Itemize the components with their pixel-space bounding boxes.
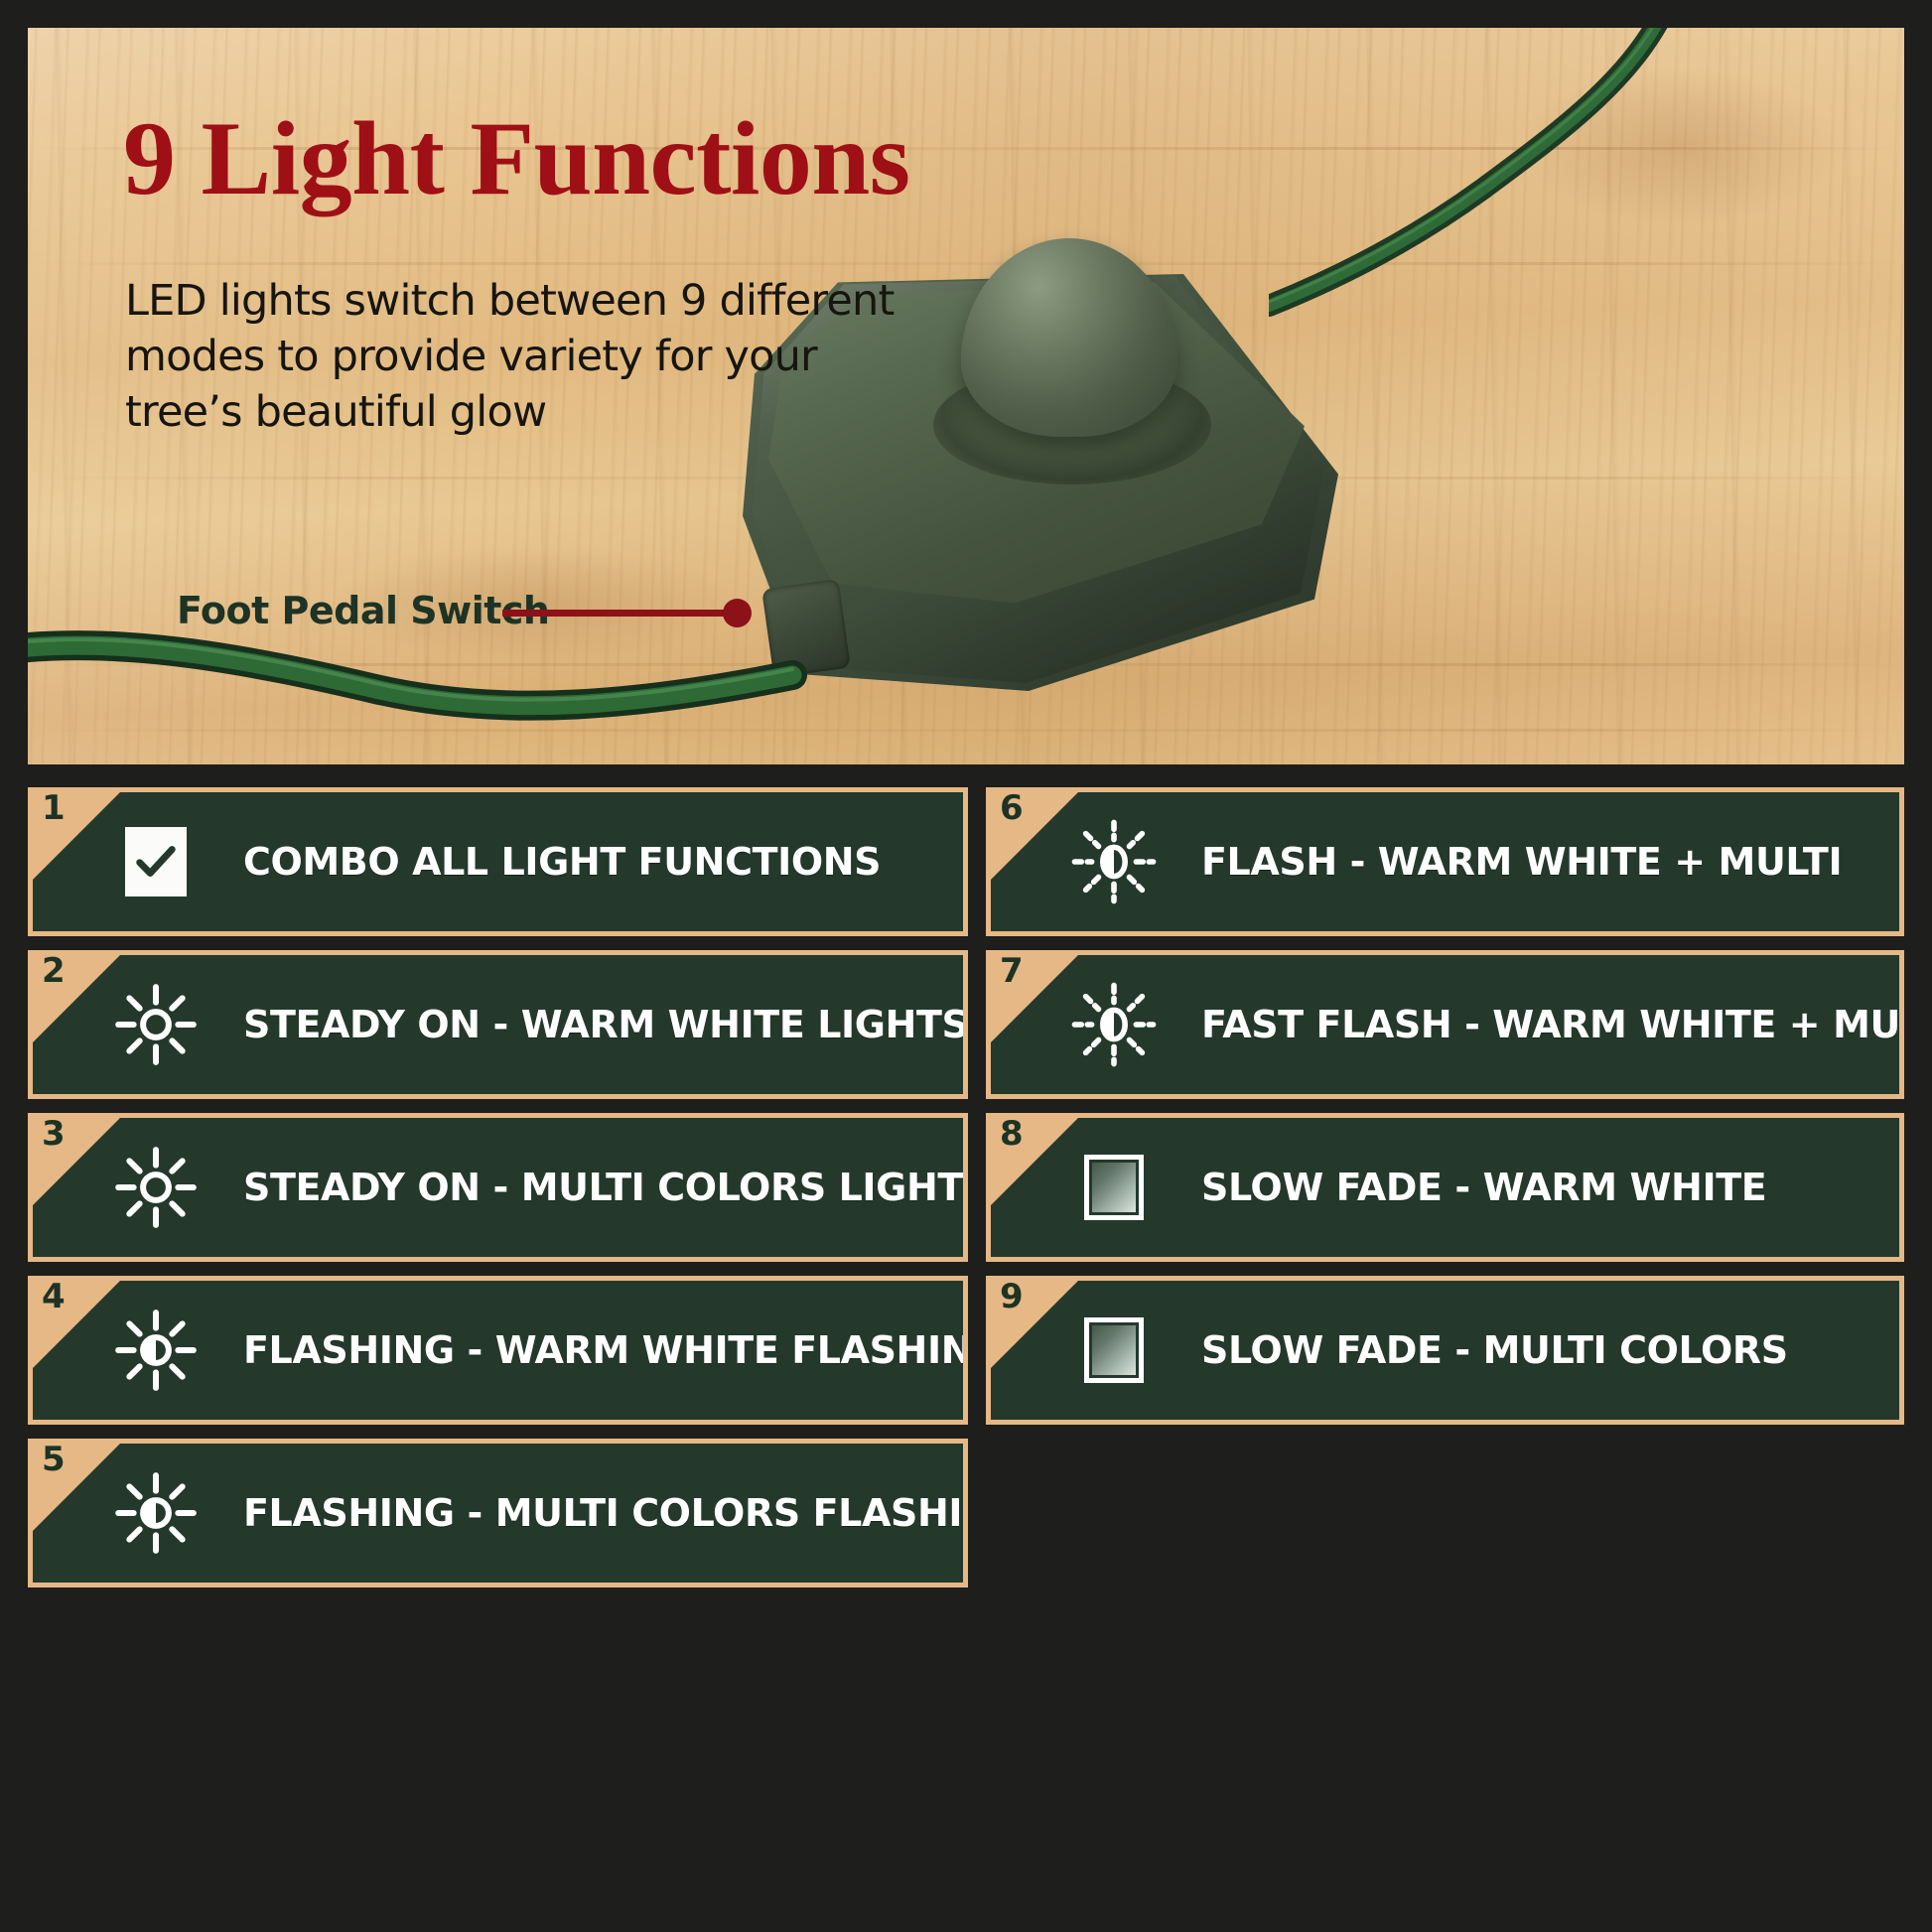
function-row-7[interactable]: 7 (986, 950, 1904, 1099)
function-card: FLASH - WARM WHITE + MULTI (991, 792, 1899, 931)
function-row-2[interactable]: 2 (28, 950, 968, 1099)
infographic-root: 9 Light Functions LED lights switch betw… (0, 0, 1932, 1932)
function-card: SLOW FADE - MULTI COLORS (991, 1281, 1899, 1420)
function-row-9[interactable]: 9 SLOW FADE - MULTI COLORS (986, 1276, 1904, 1425)
function-label: STEADY ON - MULTI COLORS LIGHTS (243, 1166, 990, 1209)
power-cord-right (1269, 28, 1686, 345)
function-card: FAST FLASH - WARM WHITE + MULTI (991, 955, 1899, 1094)
sun-flashing-icon (110, 1305, 202, 1396)
function-label: FLASHING - MULTI COLORS FLASHING (243, 1491, 1024, 1535)
functions-column-right: 6 (986, 787, 1904, 1904)
function-number: 6 (1000, 791, 1024, 825)
function-row-8[interactable]: 8 SLOW FADE - WARM WHITE (986, 1113, 1904, 1262)
function-label: FLASHING - WARM WHITE FLASHING (243, 1328, 1003, 1372)
function-row-4[interactable]: 4 (28, 1276, 968, 1425)
function-number: 9 (1000, 1280, 1024, 1313)
function-row-6[interactable]: 6 (986, 787, 1904, 936)
function-label: FAST FLASH - WARM WHITE + MULTI (1201, 1003, 1932, 1046)
function-label: SLOW FADE - MULTI COLORS (1201, 1328, 1788, 1372)
light-functions-grid: 1 COMBO ALL LIGHT FUNCTIONS 2 (28, 787, 1904, 1904)
sun-flash-dashed-icon (1068, 816, 1160, 907)
function-label: COMBO ALL LIGHT FUNCTIONS (243, 840, 881, 884)
pedal-push-button (961, 238, 1177, 437)
function-row-5[interactable]: 5 (28, 1439, 968, 1587)
page-title: 9 Light Functions (123, 105, 910, 212)
hero-photo-panel: 9 Light Functions LED lights switch betw… (28, 28, 1904, 764)
function-label: STEADY ON - WARM WHITE LIGHTS (243, 1003, 968, 1046)
functions-column-left: 1 COMBO ALL LIGHT FUNCTIONS 2 (28, 787, 968, 1904)
gradient-square-fade-icon (1068, 1142, 1160, 1233)
page-subtitle: LED lights switch between 9 different mo… (125, 274, 899, 441)
function-number: 3 (42, 1117, 66, 1151)
function-card: FLASHING - WARM WHITE FLASHING (33, 1281, 963, 1420)
sun-flash-dashed-icon (1068, 979, 1160, 1070)
sun-steady-icon (110, 979, 202, 1070)
checkbox-check-icon (110, 816, 202, 907)
sun-steady-icon (110, 1142, 202, 1233)
function-number: 4 (42, 1280, 66, 1313)
function-card: STEADY ON - MULTI COLORS LIGHTS (33, 1118, 963, 1257)
function-number: 8 (1000, 1117, 1024, 1151)
function-card: SLOW FADE - WARM WHITE (991, 1118, 1899, 1257)
function-number: 5 (42, 1443, 66, 1476)
function-number: 2 (42, 954, 66, 988)
sun-flashing-icon (110, 1467, 202, 1559)
callout-label-foot-pedal-switch: Foot Pedal Switch (177, 589, 550, 632)
function-label: SLOW FADE - WARM WHITE (1201, 1166, 1766, 1209)
function-label: FLASH - WARM WHITE + MULTI (1201, 840, 1842, 884)
function-row-3[interactable]: 3 (28, 1113, 968, 1262)
function-number: 1 (42, 791, 66, 825)
function-card: STEADY ON - WARM WHITE LIGHTS (33, 955, 963, 1094)
function-row-1[interactable]: 1 COMBO ALL LIGHT FUNCTIONS (28, 787, 968, 936)
function-card: FLASHING - MULTI COLORS FLASHING (33, 1444, 963, 1583)
callout-leader-line (502, 610, 739, 617)
callout-endpoint-dot (723, 599, 752, 627)
function-number: 7 (1000, 954, 1024, 988)
gradient-square-fade-icon (1068, 1305, 1160, 1396)
function-card: COMBO ALL LIGHT FUNCTIONS (33, 792, 963, 931)
